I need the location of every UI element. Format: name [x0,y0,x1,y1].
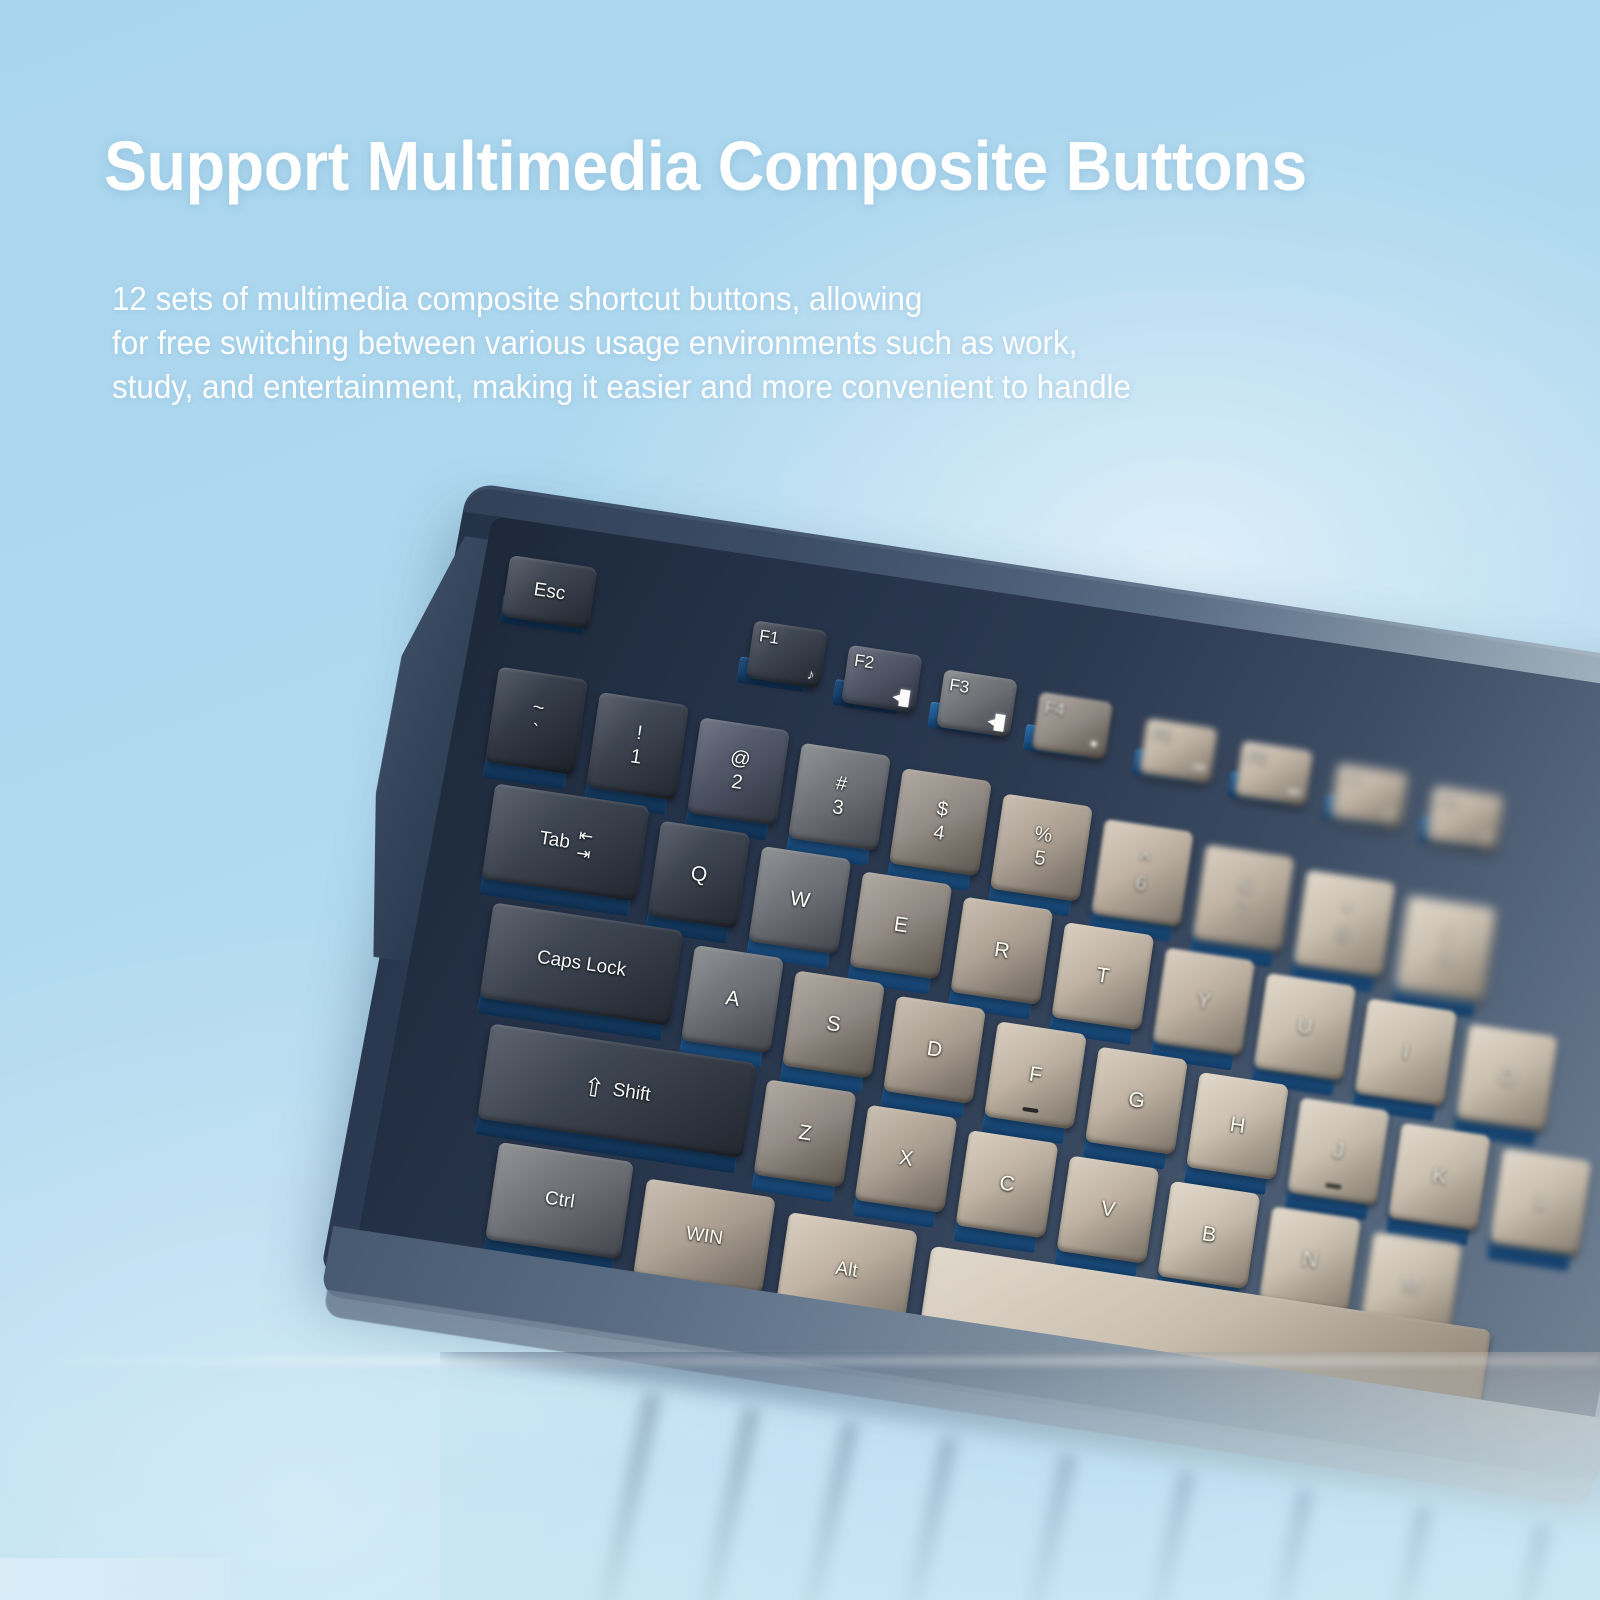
description-line-2: for free switching between various usage… [112,324,1077,361]
key-l-label: L [1533,1190,1548,1215]
key-k-label: K [1431,1164,1448,1190]
key-f4[interactable]: F4 ☀ [1032,692,1114,760]
key-5-label: 5 [1033,848,1047,869]
key-8-shift-label: * [1341,901,1352,922]
key-5[interactable]: % 5 [990,793,1093,901]
key-f3-label: F3 [948,675,971,698]
key-x-label: X [897,1146,914,1172]
tab-arrows-icon: ⇤ ⇥ [575,829,594,863]
key-esc-label: Esc [532,579,567,606]
key-j-label: J [1332,1139,1346,1164]
key-i[interactable]: I [1354,998,1457,1106]
key-8-label: 8 [1336,924,1350,945]
key-f1[interactable]: F1 ♪ [746,620,828,688]
key-j[interactable]: J [1287,1097,1390,1205]
brightness-icon: ☀ [1086,735,1101,754]
key-7-shift-label: & [1237,875,1253,897]
key-u[interactable]: U [1253,973,1356,1081]
key-n-label: N [1301,1247,1320,1273]
key-t[interactable]: T [1051,922,1154,1030]
key-1[interactable]: ! 1 [586,692,689,800]
key-caps-lock-label: Caps Lock [536,947,628,982]
description-line-3: study, and entertainment, making it easi… [112,368,1131,405]
key-x[interactable]: X [855,1105,958,1213]
key-a-label: A [724,986,741,1012]
shift-arrow-icon: ⇧ [581,1071,607,1105]
key-f-label: F [1027,1063,1043,1089]
key-h-label: H [1228,1113,1247,1139]
key-f5[interactable]: F5 ⏮ [1139,718,1218,784]
key-f2[interactable]: F2 ◂█ [841,645,923,713]
key-z-label: Z [797,1121,813,1147]
tab-arrow-right-icon: ⇥ [575,846,591,862]
key-c-label: C [998,1171,1017,1197]
key-v-label: V [1099,1197,1116,1223]
next-track-icon: ⏭ [1287,782,1302,801]
key-shift-label: Shift [611,1079,652,1106]
key-z[interactable]: Z [754,1079,857,1187]
page-title: Support Multimedia Composite Buttons [104,131,1307,201]
key-f7[interactable]: F7 ⏯ [1330,763,1409,829]
music-note-icon: ♪ [806,666,815,683]
key-2-shift-label: @ [729,747,752,770]
key-y[interactable]: Y [1152,947,1255,1055]
key-4-label: 4 [932,822,946,843]
key-alt-label: Alt [834,1258,859,1283]
homing-bar-icon [1325,1183,1341,1189]
corner-highlight [0,1558,230,1600]
key-f7-label: F7 [1341,769,1364,792]
key-h[interactable]: H [1186,1072,1289,1180]
key-f8[interactable]: F8 ● [1425,786,1504,852]
key-6-label: 6 [1134,873,1148,894]
volume-up-icon: ◂█ [986,712,1005,731]
previous-track-icon: ⏮ [1191,759,1206,778]
surface-line [0,1356,1600,1366]
key-q[interactable]: Q [647,821,750,929]
play-pause-icon: ⏯ [1384,805,1398,823]
key-w[interactable]: W [748,846,851,954]
key-f5-label: F5 [1150,724,1173,747]
key-q-label: Q [689,862,709,888]
key-5-shift-label: % [1033,824,1054,846]
description-block: 12 sets of multimedia composite shortcut… [112,277,1131,409]
key-s[interactable]: S [782,970,885,1078]
key-v[interactable]: V [1057,1155,1160,1263]
key-esc[interactable]: Esc [501,555,597,629]
key-s-label: S [825,1012,842,1038]
key-tilde[interactable]: ~ ` [485,667,588,775]
tab-arrow-left-icon: ⇤ [578,829,594,845]
key-w-label: W [788,887,811,914]
key-i-label: I [1401,1040,1410,1065]
key-f[interactable]: F [984,1021,1087,1129]
key-f6[interactable]: F6 ⏭ [1234,741,1313,807]
homing-bar-icon [1022,1107,1038,1113]
key-3-shift-label: # [835,773,849,794]
key-9-shift-label: ( [1443,926,1453,947]
key-f8-label: F8 [1437,792,1460,815]
key-a[interactable]: A [681,945,784,1053]
key-ctrl-label: Ctrl [543,1188,575,1214]
key-1-label: 1 [629,746,643,767]
key-win-label: WIN [685,1223,725,1250]
product-image-keyboard: Esc F1 ♪ F2 ◂█ F3 ◂█ F4 ☀ [430,470,1600,1470]
key-7-label: 7 [1235,899,1249,920]
key-f3[interactable]: F3 ◂█ [936,669,1018,737]
key-b-label: B [1200,1222,1217,1248]
key-4-shift-label: $ [935,799,949,820]
key-4[interactable]: $ 4 [889,768,992,876]
key-r-label: R [993,938,1012,964]
key-g-label: G [1127,1088,1147,1114]
key-f6-label: F6 [1246,747,1269,770]
key-e-label: E [892,913,909,939]
volume-down-icon: ◂█ [891,688,910,707]
key-l[interactable]: L [1489,1148,1592,1256]
key-o-label: O [1497,1065,1517,1091]
key-t-label: T [1095,963,1111,989]
key-6-shift-label: ^ [1138,850,1150,871]
key-e[interactable]: E [849,871,952,979]
key-f1-label: F1 [758,626,781,649]
key-1-shift-label: ! [635,723,643,744]
description-line-1: 12 sets of multimedia composite shortcut… [112,280,922,317]
key-m-label: M [1401,1273,1422,1299]
key-2[interactable]: @ 2 [687,717,790,825]
key-6[interactable]: ^ 6 [1091,819,1194,927]
marketing-banner: Support Multimedia Composite Buttons 12 … [0,0,1600,1600]
key-ctrl[interactable]: Ctrl [485,1142,634,1259]
key-k[interactable]: K [1388,1123,1491,1231]
key-d[interactable]: D [883,996,986,1104]
key-tab-label: Tab [538,828,572,854]
key-tilde-shift-label: ~ [531,697,545,719]
key-c[interactable]: C [956,1130,1059,1238]
key-2-label: 2 [730,772,744,793]
key-b[interactable]: B [1157,1181,1260,1289]
key-3-label: 3 [831,797,845,818]
key-f2-label: F2 [853,651,876,674]
key-u-label: U [1296,1014,1315,1040]
mute-icon: ● [1482,829,1493,846]
key-3[interactable]: # 3 [788,743,891,851]
key-tilde-label: ` [530,721,540,742]
key-o[interactable]: O [1455,1024,1558,1132]
key-r[interactable]: R [950,897,1053,1005]
key-8[interactable]: * 8 [1293,870,1396,978]
key-9[interactable]: ( 9 [1394,895,1497,1003]
key-g[interactable]: G [1085,1047,1188,1155]
key-f4-label: F4 [1043,698,1066,721]
key-9-label: 9 [1437,949,1451,970]
key-y-label: Y [1195,989,1212,1015]
key-7[interactable]: & 7 [1192,844,1295,952]
key-d-label: D [925,1037,944,1063]
